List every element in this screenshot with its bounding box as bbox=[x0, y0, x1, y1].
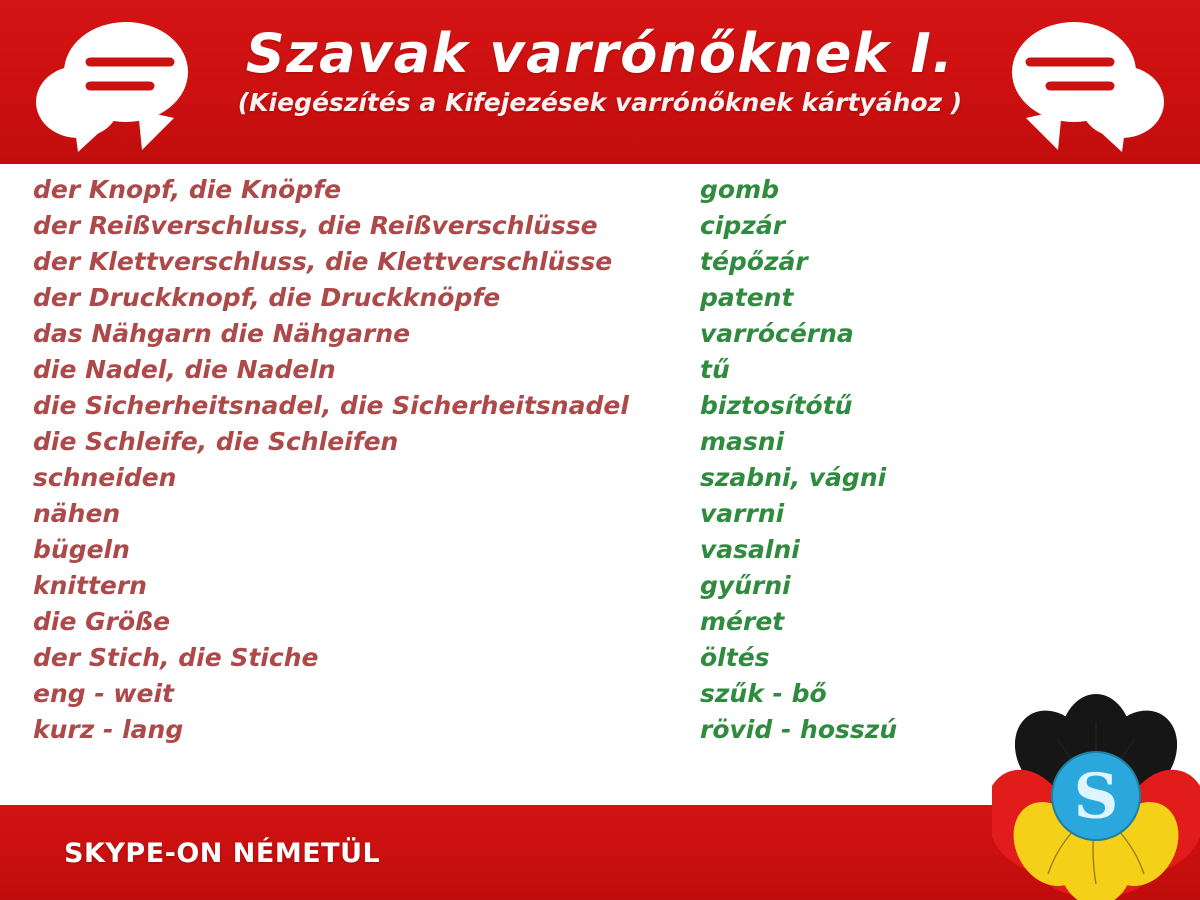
hungarian-word: masni bbox=[700, 424, 1130, 460]
hungarian-word: öltés bbox=[700, 640, 1130, 676]
skype-german-flower-logo: S bbox=[992, 692, 1200, 900]
hungarian-word: varrócérna bbox=[700, 316, 1130, 352]
brand-label: SKYPE-ON NÉMETÜL bbox=[64, 838, 380, 869]
german-word: der Reißverschluss, die Reißverschlüsse bbox=[33, 208, 673, 244]
german-word: kurz - lang bbox=[33, 712, 673, 748]
page-title: Szavak varrónőknek I. bbox=[200, 26, 1000, 83]
hungarian-word: méret bbox=[700, 604, 1130, 640]
hungarian-word: szabni, vágni bbox=[700, 460, 1130, 496]
german-word: eng - weit bbox=[33, 676, 673, 712]
german-word: der Knopf, die Knöpfe bbox=[33, 172, 673, 208]
german-word: nähen bbox=[33, 496, 673, 532]
german-word: der Stich, die Stiche bbox=[33, 640, 673, 676]
poster-root: Szavak varrónőknek I. (Kiegészítés a Kif… bbox=[0, 0, 1200, 900]
german-word: die Größe bbox=[33, 604, 673, 640]
german-word: schneiden bbox=[33, 460, 673, 496]
hungarian-word: gyűrni bbox=[700, 568, 1130, 604]
german-word: knittern bbox=[33, 568, 673, 604]
hungarian-word: patent bbox=[700, 280, 1130, 316]
hungarian-word: gomb bbox=[700, 172, 1130, 208]
hungarian-word: cipzár bbox=[700, 208, 1130, 244]
hungarian-word: tépőzár bbox=[700, 244, 1130, 280]
hungarian-word: tű bbox=[700, 352, 1130, 388]
header-band: Szavak varrónőknek I. (Kiegészítés a Kif… bbox=[0, 0, 1200, 164]
speech-bubbles-icon-right bbox=[998, 10, 1178, 156]
german-word: der Druckknopf, die Druckknöpfe bbox=[33, 280, 673, 316]
logo-letter: S bbox=[1074, 760, 1119, 833]
hungarian-word: biztosítótű bbox=[700, 388, 1130, 424]
hungarian-column: gomb cipzár tépőzár patent varrócérna tű… bbox=[700, 172, 1130, 748]
german-word: die Schleife, die Schleifen bbox=[33, 424, 673, 460]
german-column: der Knopf, die Knöpfe der Reißverschluss… bbox=[33, 172, 673, 748]
german-word: bügeln bbox=[33, 532, 673, 568]
header-titles: Szavak varrónőknek I. (Kiegészítés a Kif… bbox=[200, 26, 1000, 116]
hungarian-word: varrni bbox=[700, 496, 1130, 532]
hungarian-word: vasalni bbox=[700, 532, 1130, 568]
german-word: die Nadel, die Nadeln bbox=[33, 352, 673, 388]
german-word: das Nähgarn die Nähgarne bbox=[33, 316, 673, 352]
german-word: die Sicherheitsnadel, die Sicherheitsnad… bbox=[33, 388, 673, 424]
speech-bubbles-icon-left bbox=[22, 10, 202, 156]
page-subtitle: (Kiegészítés a Kifejezések varrónőknek k… bbox=[200, 89, 1000, 117]
german-word: der Klettverschluss, die Klettverschlüss… bbox=[33, 244, 673, 280]
